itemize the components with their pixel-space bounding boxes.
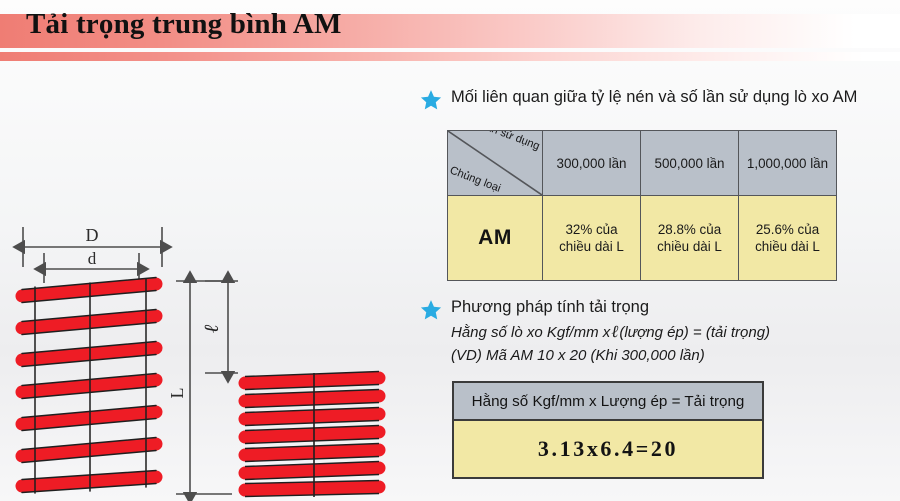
ratio-unit: chiều dài L — [543, 238, 640, 255]
label-compression: ℓ — [201, 324, 223, 333]
coil-spring-diagram: D d — [0, 205, 410, 501]
label-outer-diameter: D — [86, 225, 99, 245]
table-col-header-1m: 1,000,000 lần — [739, 131, 837, 196]
table-col-header-500k: 500,000 lần — [641, 131, 739, 196]
table-cell-ratio-1m: 25.6% của chiều dài L — [739, 196, 837, 281]
ratio-unit: chiều dài L — [739, 238, 836, 255]
method-formula-pre: Hằng số lò xo Kgf/mm x — [451, 324, 610, 341]
ratio-value: 28.8% của — [641, 221, 738, 238]
method-formula-post: (lượng ép) = (tải trọng) — [619, 324, 770, 341]
method-formula-symbol: ℓ — [610, 322, 619, 341]
compression-ratio-table: Số lần sử dụng Chủng loại 300,000 lần 50… — [447, 130, 837, 281]
table-cell-type: AM — [448, 196, 543, 281]
section-compression-heading: Mối liên quan giữa tỷ lệ nén và số lần s… — [451, 88, 857, 107]
title-band-underline — [0, 52, 900, 61]
table-col-header-300k: 300,000 lần — [543, 131, 641, 196]
method-formula-lines: Hằng số lò xo Kgf/mm xℓ(lượng ép) = (tải… — [451, 320, 871, 366]
table-header-row: Số lần sử dụng Chủng loại 300,000 lần 50… — [448, 131, 837, 196]
formula-box-value: 3.13x6.4=20 — [454, 421, 762, 477]
method-example-line: (VD) Mã AM 10 x 20 (Khi 300,000 lần) — [451, 345, 871, 367]
page-title: Tải trọng trung bình AM — [26, 8, 342, 41]
ratio-value: 25.6% của — [739, 221, 836, 238]
ratio-value: 32% của — [543, 221, 640, 238]
formula-result-box: Hằng số Kgf/mm x Lượng ép = Tải trọng 3.… — [452, 381, 764, 479]
table-cell-ratio-500k: 28.8% của chiều dài L — [641, 196, 739, 281]
compressed-spring — [245, 372, 379, 498]
section-method-heading: Phương pháp tính tải trọng — [451, 298, 649, 317]
star-icon — [420, 299, 442, 321]
ratio-unit: chiều dài L — [641, 238, 738, 255]
table-cell-ratio-300k: 32% của chiều dài L — [543, 196, 641, 281]
method-formula-line: Hằng số lò xo Kgf/mm xℓ(lượng ép) = (tải… — [451, 320, 871, 345]
type-label: AM — [478, 226, 512, 249]
label-inner-diameter: d — [88, 249, 97, 268]
free-spring — [22, 278, 156, 494]
section-method-heading-row: Phương pháp tính tải trọng — [420, 298, 649, 321]
table-row: AM 32% của chiều dài L 28.8% của chiều d… — [448, 196, 837, 281]
formula-box-header: Hằng số Kgf/mm x Lượng ép = Tải trọng — [454, 383, 762, 421]
table-corner-cell: Số lần sử dụng Chủng loại — [448, 131, 543, 196]
section-compression-heading-row: Mối liên quan giữa tỷ lệ nén và số lần s… — [420, 88, 857, 111]
label-free-length: L — [167, 388, 187, 399]
star-icon — [420, 89, 442, 111]
dimension-free-length — [176, 281, 232, 494]
